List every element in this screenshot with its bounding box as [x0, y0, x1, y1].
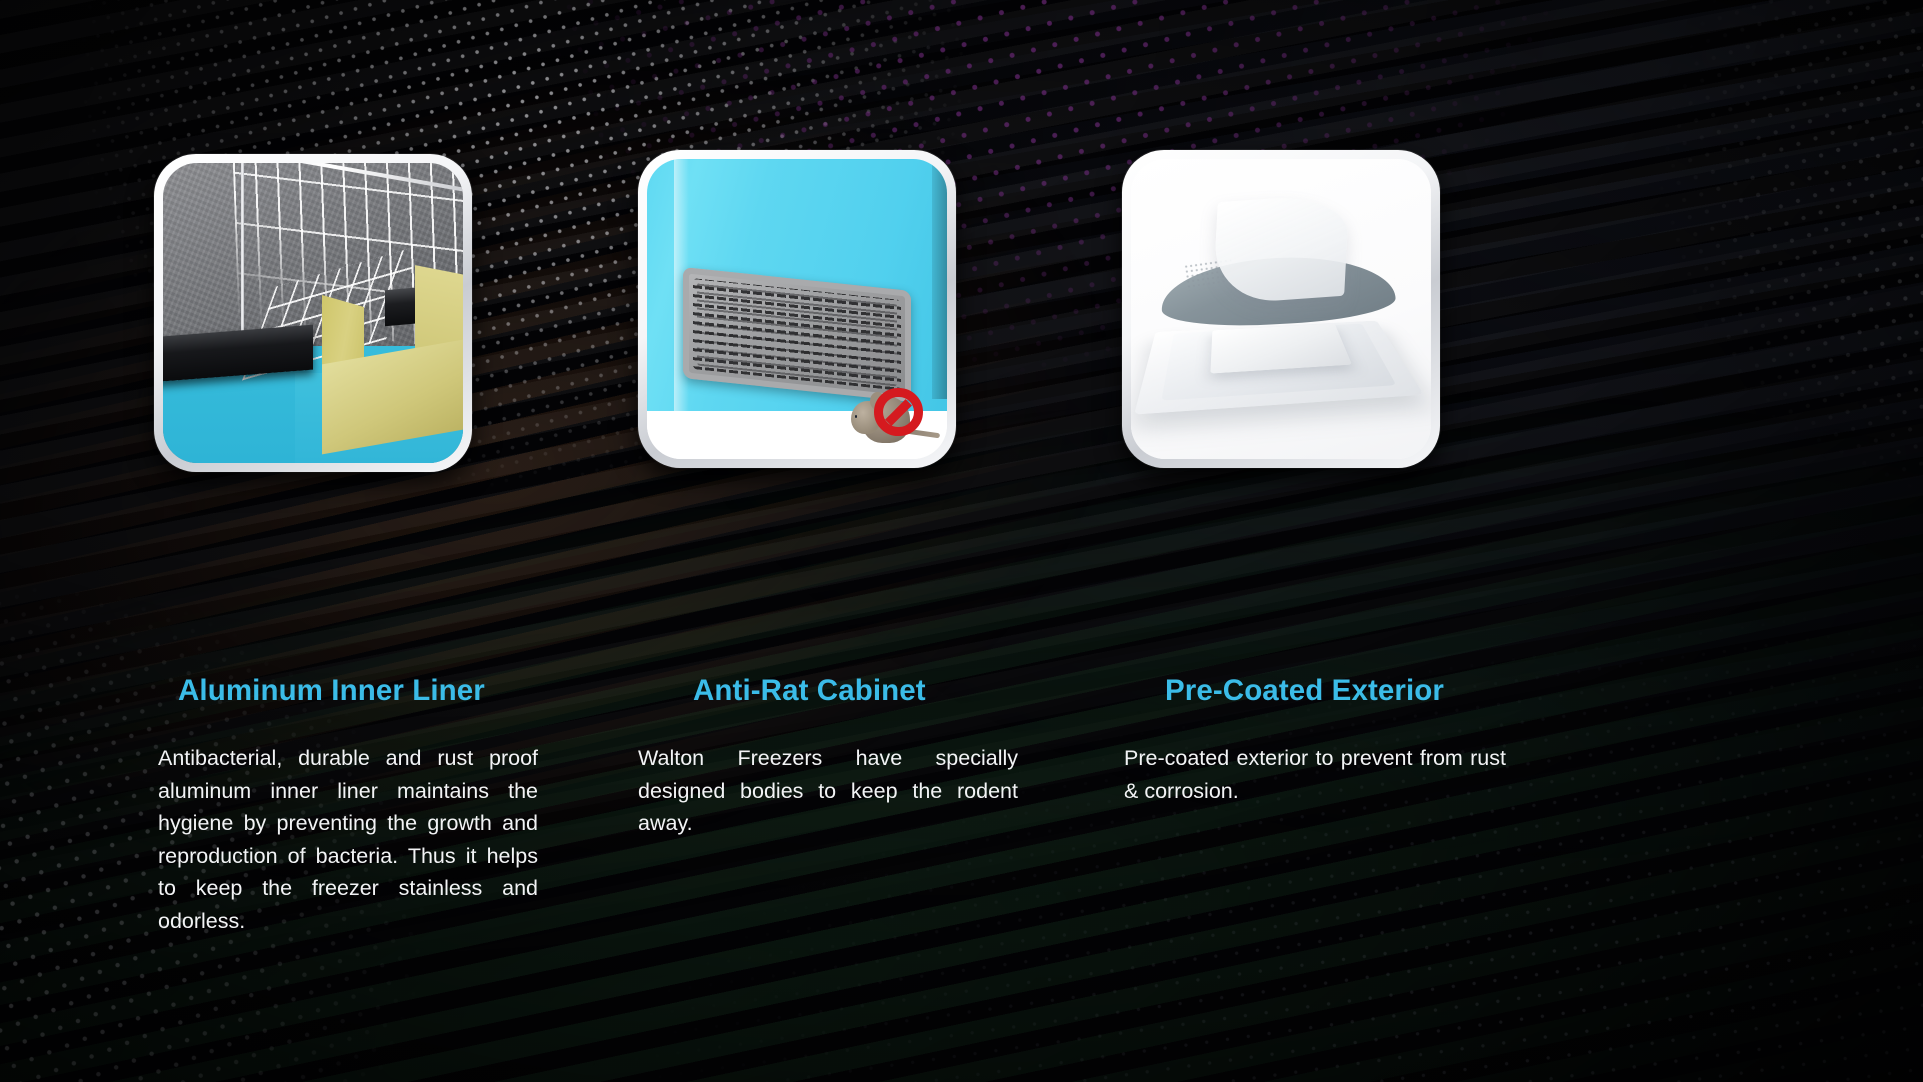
no-entry-icon — [874, 388, 922, 436]
grille-slots-icon — [693, 278, 901, 391]
feature-heading: Anti-Rat Cabinet — [693, 674, 926, 708]
rat-eye-icon — [855, 415, 857, 418]
basket-rod-icon — [241, 163, 244, 331]
feature-body: Antibacterial, durable and rust proof al… — [158, 742, 538, 937]
feature-grid: Aluminum Inner Liner Antibacterial, dura… — [0, 0, 1923, 1082]
feature-image-aluminum-inner-liner — [154, 154, 472, 472]
feature-card-anti-rat-cabinet: Anti-Rat Cabinet Walton Freezers have sp… — [620, 0, 1140, 318]
no-entry-slash-icon — [885, 399, 912, 426]
feature-image-pre-coated-exterior — [1122, 150, 1440, 468]
feature-card-aluminum-inner-liner: Aluminum Inner Liner Antibacterial, dura… — [136, 0, 656, 318]
feature-heading: Aluminum Inner Liner — [178, 674, 485, 708]
feature-body: Walton Freezers have specially designed … — [638, 742, 1018, 840]
feature-card-pre-coated-exterior: Pre-Coated Exterior Pre-coated exterior … — [1104, 0, 1624, 318]
rat-prohibited-icon — [851, 384, 929, 450]
feature-body: Pre-coated exterior to prevent from rust… — [1124, 742, 1506, 807]
cabinet-right-edge-icon — [932, 165, 947, 399]
feature-heading: Pre-Coated Exterior — [1165, 674, 1444, 708]
feature-image-anti-rat-cabinet — [638, 150, 956, 468]
